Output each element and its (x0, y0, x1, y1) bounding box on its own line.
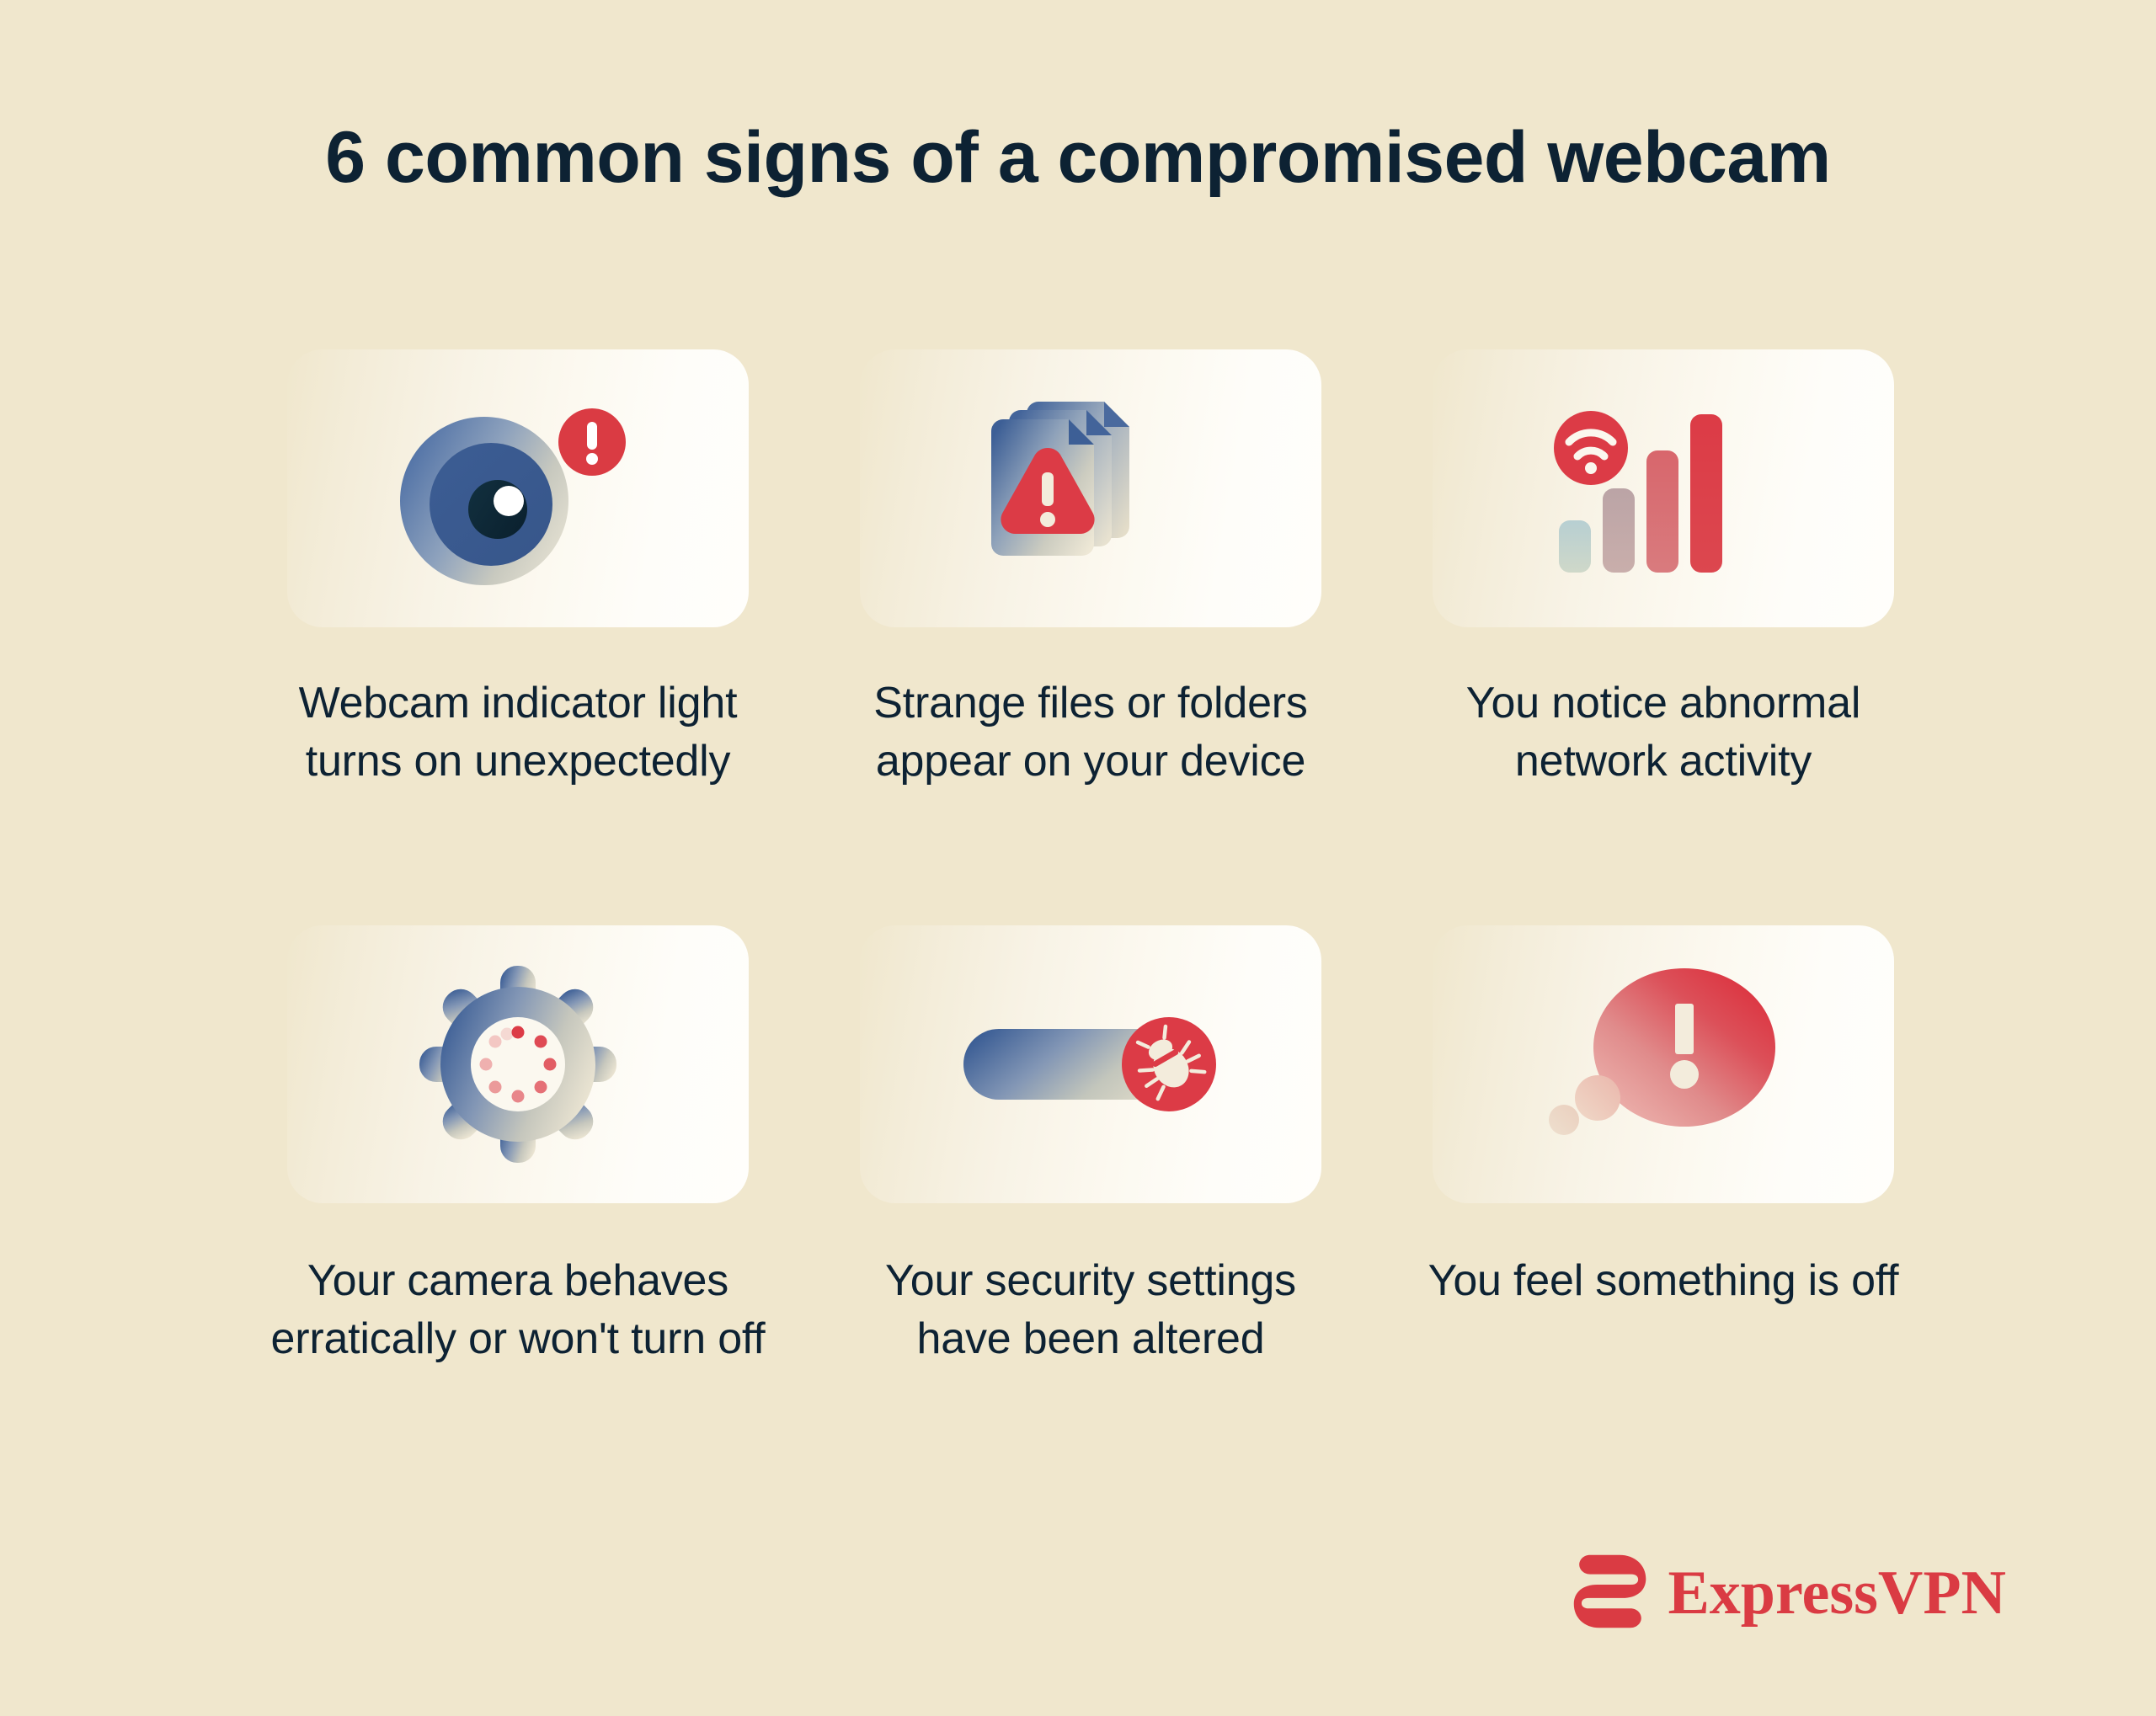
stacked-files-warning-icon (981, 383, 1200, 594)
sign-illustration-4 (287, 925, 749, 1203)
sign-illustration-3 (1433, 349, 1894, 627)
sign-caption-5: Your security settings have been altered (838, 1252, 1343, 1367)
sign-caption-6: You feel something is off (1411, 1252, 1916, 1310)
gear-shape (419, 966, 616, 1163)
infographic-page: 6 common signs of a compromised webcam (0, 0, 2156, 1716)
signal-bar-1 (1559, 520, 1591, 573)
sign-caption-2: Strange files or folders appear on your … (838, 674, 1343, 790)
bubble-dot-small (1549, 1105, 1579, 1135)
sign-card-6: You feel something is off (1411, 925, 1916, 1367)
gear-spinner-icon (413, 959, 623, 1170)
sign-illustration-2 (860, 349, 1321, 627)
wifi-badge-icon (1554, 411, 1628, 485)
signs-grid: Webcam indicator light turns on unexpect… (265, 349, 1916, 1368)
sign-illustration-6 (1433, 925, 1894, 1203)
signal-bar-3 (1646, 450, 1678, 573)
page-title: 6 common signs of a compromised webcam (0, 118, 2156, 198)
webcam-lens-alert-icon (383, 383, 653, 594)
toggle-knob-bug (1122, 1017, 1216, 1111)
sign-caption-4: Your camera behaves erratically or won't… (265, 1252, 771, 1367)
expressvpn-logo[interactable]: ExpressVPN (1572, 1554, 2006, 1632)
thought-bubble-exclamation-icon (1545, 963, 1781, 1165)
sign-caption-1: Webcam indicator light turns on unexpect… (265, 674, 771, 790)
sign-card-4: Your camera behaves erratically or won't… (265, 925, 771, 1367)
sign-illustration-5 (860, 925, 1321, 1203)
bubble-dot-large (1575, 1075, 1620, 1121)
sign-card-2: Strange files or folders appear on your … (838, 349, 1343, 790)
signal-bar-4 (1690, 414, 1722, 573)
sign-card-1: Webcam indicator light turns on unexpect… (265, 349, 771, 790)
sign-card-3: You notice abnormal network activity (1411, 349, 1916, 790)
toggle-switch-bug-icon (960, 1014, 1221, 1115)
expressvpn-e-logo-icon (1572, 1554, 1649, 1632)
network-activity-bars-wifi-icon (1545, 383, 1781, 594)
brand-name: ExpressVPN (1668, 1562, 2006, 1624)
sign-caption-3: You notice abnormal network activity (1411, 674, 1916, 790)
sign-card-5: Your security settings have been altered (838, 925, 1343, 1367)
sign-illustration-1 (287, 349, 749, 627)
signal-bar-2 (1603, 488, 1635, 573)
